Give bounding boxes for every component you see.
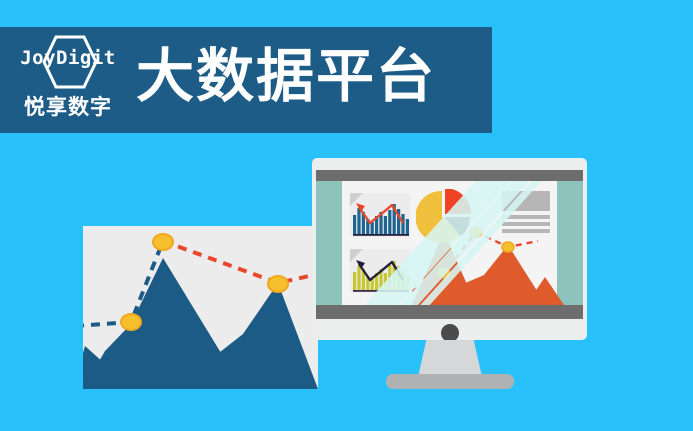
bar-line-card-blue bbox=[350, 193, 410, 237]
monitor-screen bbox=[316, 181, 583, 305]
camera-dot-icon bbox=[441, 324, 459, 342]
data-point-marker bbox=[268, 276, 288, 292]
arrow-head-icon bbox=[356, 260, 365, 269]
brand-logo: JoyDigit 悦享数字 bbox=[14, 33, 122, 125]
trend-line-right bbox=[163, 241, 318, 283]
monitor-stand-neck bbox=[418, 340, 482, 377]
monitor-bezel-top bbox=[316, 170, 583, 181]
logo-wordmark: JoyDigit bbox=[14, 47, 122, 69]
page-title: 大数据平台 bbox=[136, 48, 436, 106]
mountain-line-chart-panel bbox=[83, 226, 318, 389]
desktop-monitor bbox=[312, 158, 587, 384]
placeholder-line bbox=[502, 222, 550, 226]
monitor-bezel-bottom bbox=[316, 305, 583, 319]
data-point-marker bbox=[502, 242, 514, 252]
illustration-canvas: JoyDigit 悦享数字 大数据平台 bbox=[0, 0, 693, 431]
logo-subtitle: 悦享数字 bbox=[14, 91, 122, 121]
arrow-head-icon bbox=[356, 203, 365, 212]
placeholder-line bbox=[502, 229, 550, 233]
data-point-marker bbox=[121, 314, 141, 330]
data-point-marker bbox=[153, 234, 173, 250]
axis-line bbox=[353, 234, 409, 236]
monitor-stand-base bbox=[386, 374, 514, 389]
